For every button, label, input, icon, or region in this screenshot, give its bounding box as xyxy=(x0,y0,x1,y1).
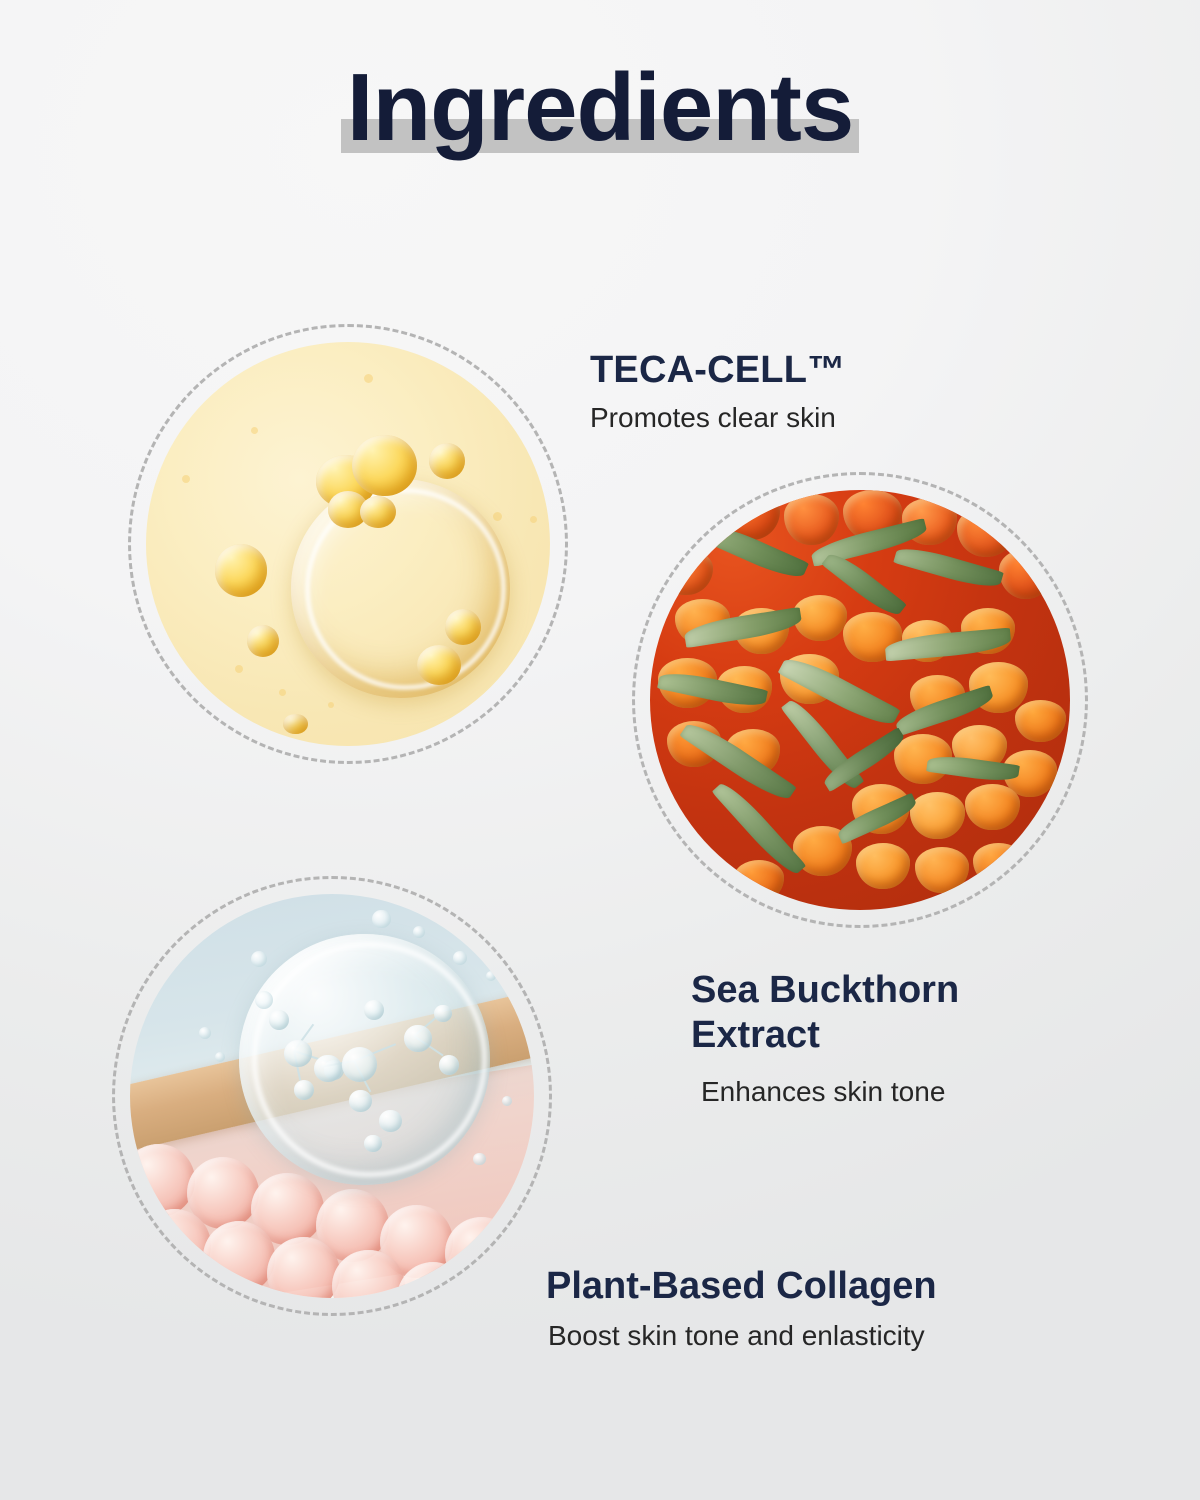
title-inner: Ingredients xyxy=(347,58,853,159)
ingredients-infographic: Ingredients xyxy=(0,0,1200,1500)
page-title-text: Ingredients xyxy=(347,54,853,161)
ingredient-name-teca-cell: TECA-CELL™ xyxy=(590,348,845,393)
dashed-ring xyxy=(112,876,552,1316)
page-title: Ingredients xyxy=(0,58,1200,159)
dashed-ring xyxy=(632,472,1088,928)
ingredient-image-plant-based-collagen xyxy=(112,876,552,1316)
ingredient-image-sea-buckthorn xyxy=(632,472,1088,928)
dashed-ring xyxy=(128,324,568,764)
ingredient-benefit-sea-buckthorn: Enhances skin tone xyxy=(701,1074,945,1109)
ingredient-benefit-plant-based-collagen: Boost skin tone and enlasticity xyxy=(548,1318,925,1353)
ingredient-image-teca-cell xyxy=(128,324,568,764)
ingredient-name-plant-based-collagen: Plant-Based Collagen xyxy=(546,1264,937,1309)
ingredient-benefit-teca-cell: Promotes clear skin xyxy=(590,400,836,435)
ingredient-name-sea-buckthorn: Sea Buckthorn Extract xyxy=(691,968,1031,1058)
